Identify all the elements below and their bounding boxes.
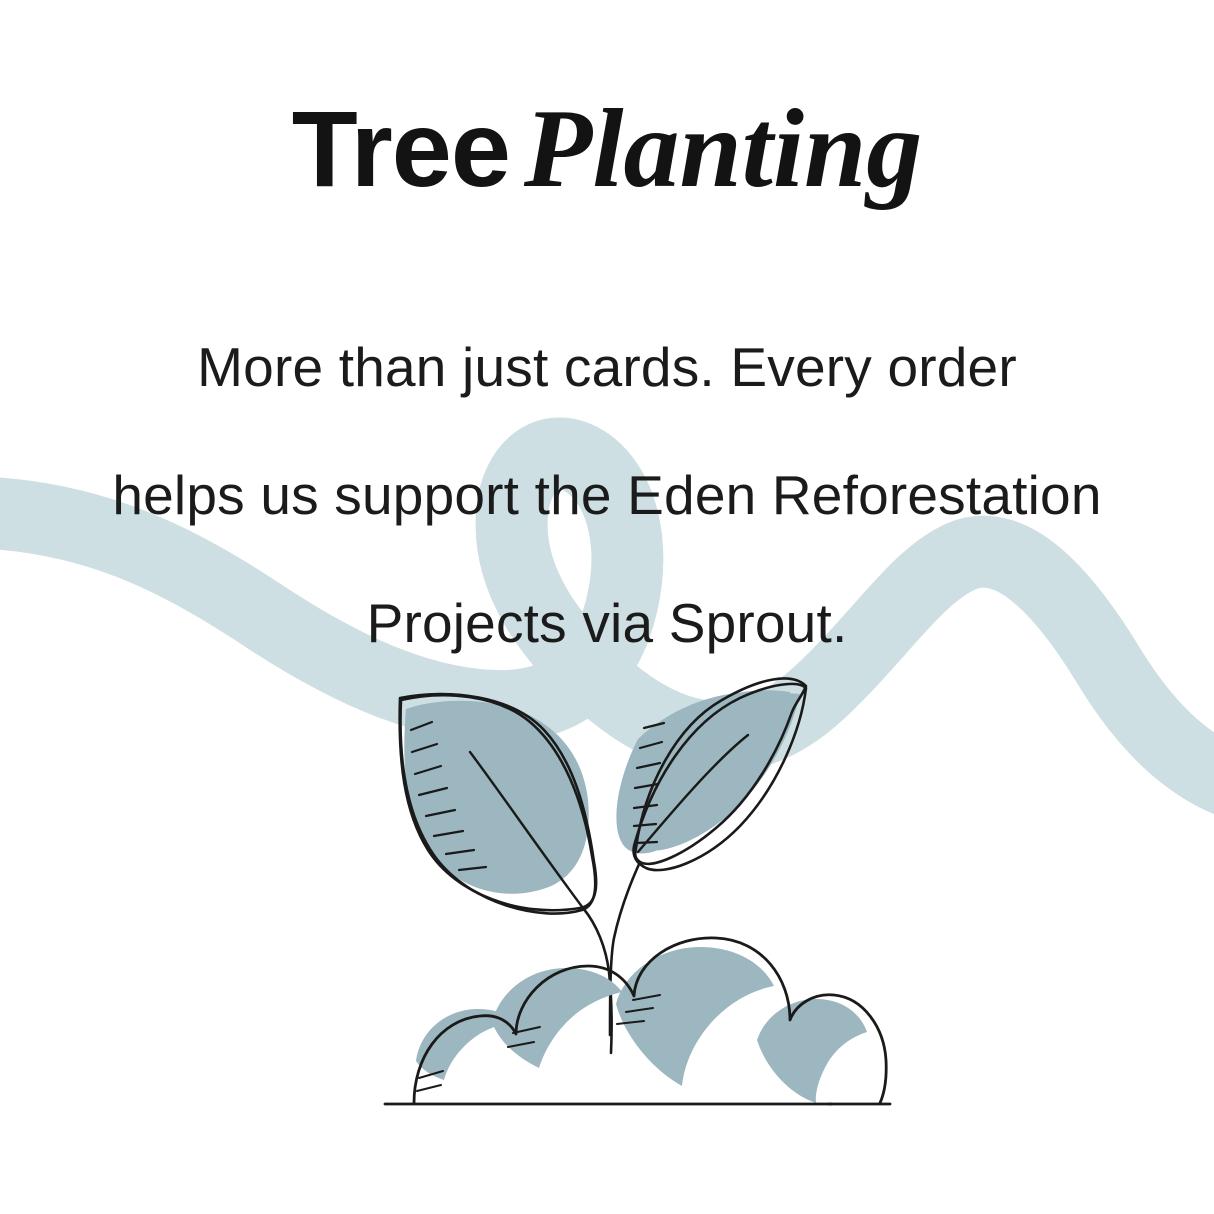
page-title-bold-word: Tree [292, 88, 510, 209]
text-layer: TreePlanting More than just cards. Every… [0, 0, 1214, 1214]
card-canvas: TreePlanting More than just cards. Every… [0, 0, 1214, 1214]
page-title-italic-word: Planting [524, 87, 922, 211]
subtitle-line-2: helps us support the Eden Reforestation [30, 431, 1184, 559]
subtitle-paragraph: More than just cards. Every order helps … [30, 303, 1184, 687]
subtitle-line-1: More than just cards. Every order [30, 303, 1184, 431]
subtitle-line-3: Projects via Sprout. [30, 559, 1184, 687]
page-title: TreePlanting [0, 93, 1214, 205]
